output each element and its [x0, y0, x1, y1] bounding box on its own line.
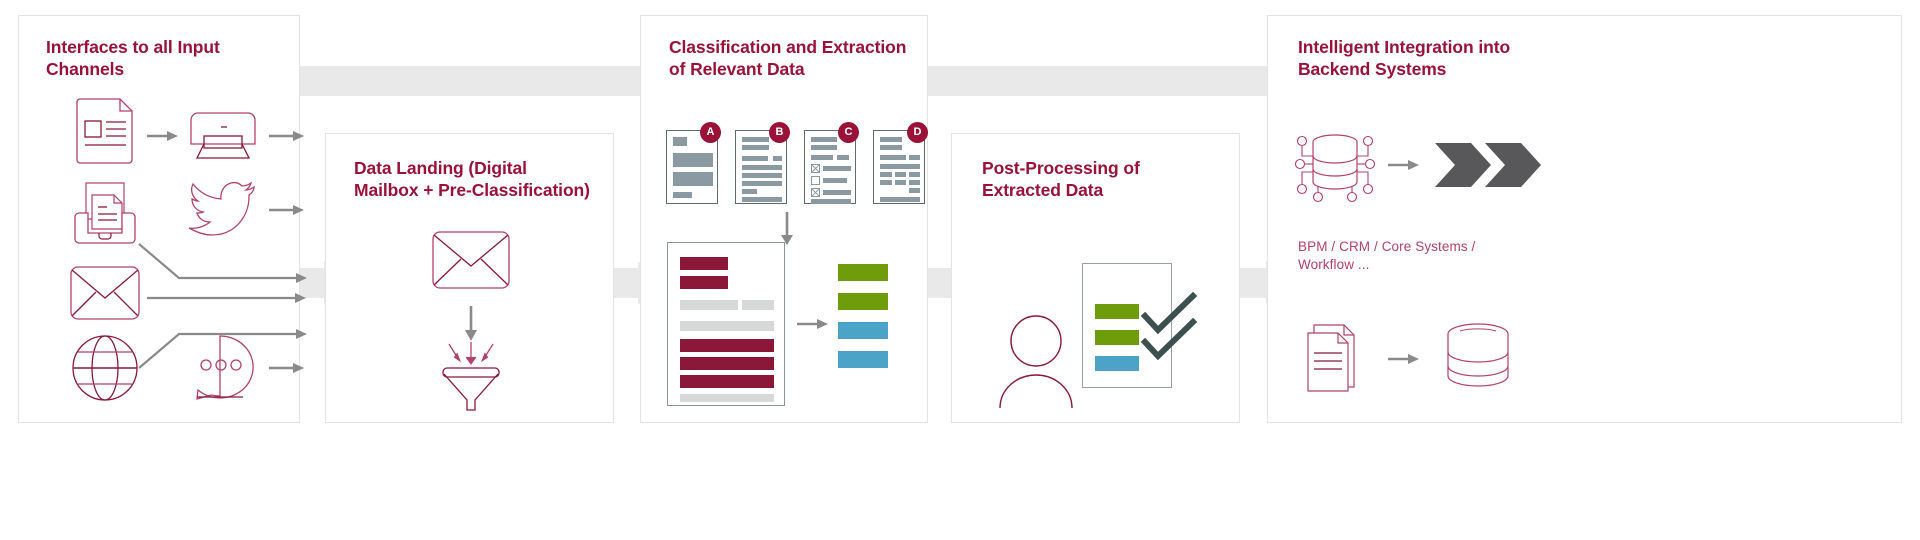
validated-field-bar-3 — [1095, 356, 1139, 371]
extracted-field-bar-2 — [838, 293, 888, 310]
badge-a: A — [700, 122, 721, 143]
connector-input-to-classification — [298, 66, 646, 96]
panel-post-processing[interactable]: Post-Processing of Extracted Data — [951, 133, 1240, 423]
panel-classification[interactable]: Classification and Extraction of Relevan… — [640, 15, 928, 423]
checkbox-empty-icon — [811, 176, 820, 185]
chat-bubble-icon — [184, 334, 256, 402]
arrow-right-icon — [269, 130, 305, 142]
document-icon — [74, 96, 136, 166]
panel-title-input-channels: Interfaces to all Input Channels — [46, 36, 261, 81]
arrow-right-icon — [1388, 159, 1420, 171]
arrow-down-icon — [780, 212, 794, 246]
twitter-bird-icon — [184, 181, 256, 241]
panel-title-data-landing: Data Landing (Digital Mailbox + Pre-Clas… — [354, 157, 594, 202]
panel-title-backend-integration: Intelligent Integration into Backend Sys… — [1298, 36, 1568, 81]
database-network-icon — [1296, 129, 1374, 201]
database-icon — [1438, 321, 1518, 393]
extracted-field-bar-3 — [838, 322, 888, 339]
arrow-right-icon — [147, 292, 307, 304]
envelope-icon — [69, 265, 141, 321]
arrow-right-icon — [269, 204, 305, 216]
scanner-icon — [71, 181, 139, 247]
panel-backend-integration[interactable]: Intelligent Integration into Backend Sys… — [1267, 15, 1902, 423]
extracted-document-icon[interactable] — [667, 242, 785, 406]
connector-classification-to-backend — [925, 66, 1270, 96]
connector-postprocessing-to-backend — [1240, 268, 1267, 298]
arrow-right-icon — [1388, 353, 1420, 365]
chevrons-icon — [1435, 143, 1541, 187]
panel-data-landing[interactable]: Data Landing (Digital Mailbox + Pre-Clas… — [325, 133, 614, 423]
check-icon — [1143, 320, 1197, 362]
badge-b: B — [769, 122, 790, 143]
checkbox-checked-icon — [811, 164, 820, 173]
panel-title-post-processing: Post-Processing of Extracted Data — [982, 157, 1182, 202]
document-icon — [1296, 321, 1366, 393]
person-icon — [998, 314, 1074, 408]
extracted-field-bar-1 — [838, 264, 888, 281]
backend-systems-label: BPM / CRM / Core Systems / Workflow ... — [1298, 238, 1513, 274]
diagram-canvas: Interfaces to all Input Channels — [0, 0, 1920, 540]
extracted-field-bar-4 — [838, 351, 888, 368]
validated-field-bar-2 — [1095, 330, 1139, 345]
validated-field-bar-1 — [1095, 304, 1139, 319]
badge-d: D — [907, 122, 928, 143]
envelope-icon — [431, 230, 511, 290]
connector-landing-to-classification — [612, 268, 639, 298]
globe-icon — [71, 334, 139, 402]
arrow-right-icon — [269, 362, 305, 374]
arrow-right-icon — [147, 130, 179, 142]
printer-icon — [187, 108, 259, 160]
arrow-down-icon — [464, 306, 478, 342]
panel-title-classification: Classification and Extraction of Relevan… — [669, 36, 914, 81]
arrow-right-icon — [797, 318, 829, 330]
connector-classification-to-postprocessing — [925, 268, 952, 298]
badge-c: C — [838, 122, 859, 143]
checkbox-checked-icon — [811, 188, 820, 197]
funnel-icon — [429, 342, 513, 414]
panel-input-channels[interactable]: Interfaces to all Input Channels — [18, 15, 300, 423]
